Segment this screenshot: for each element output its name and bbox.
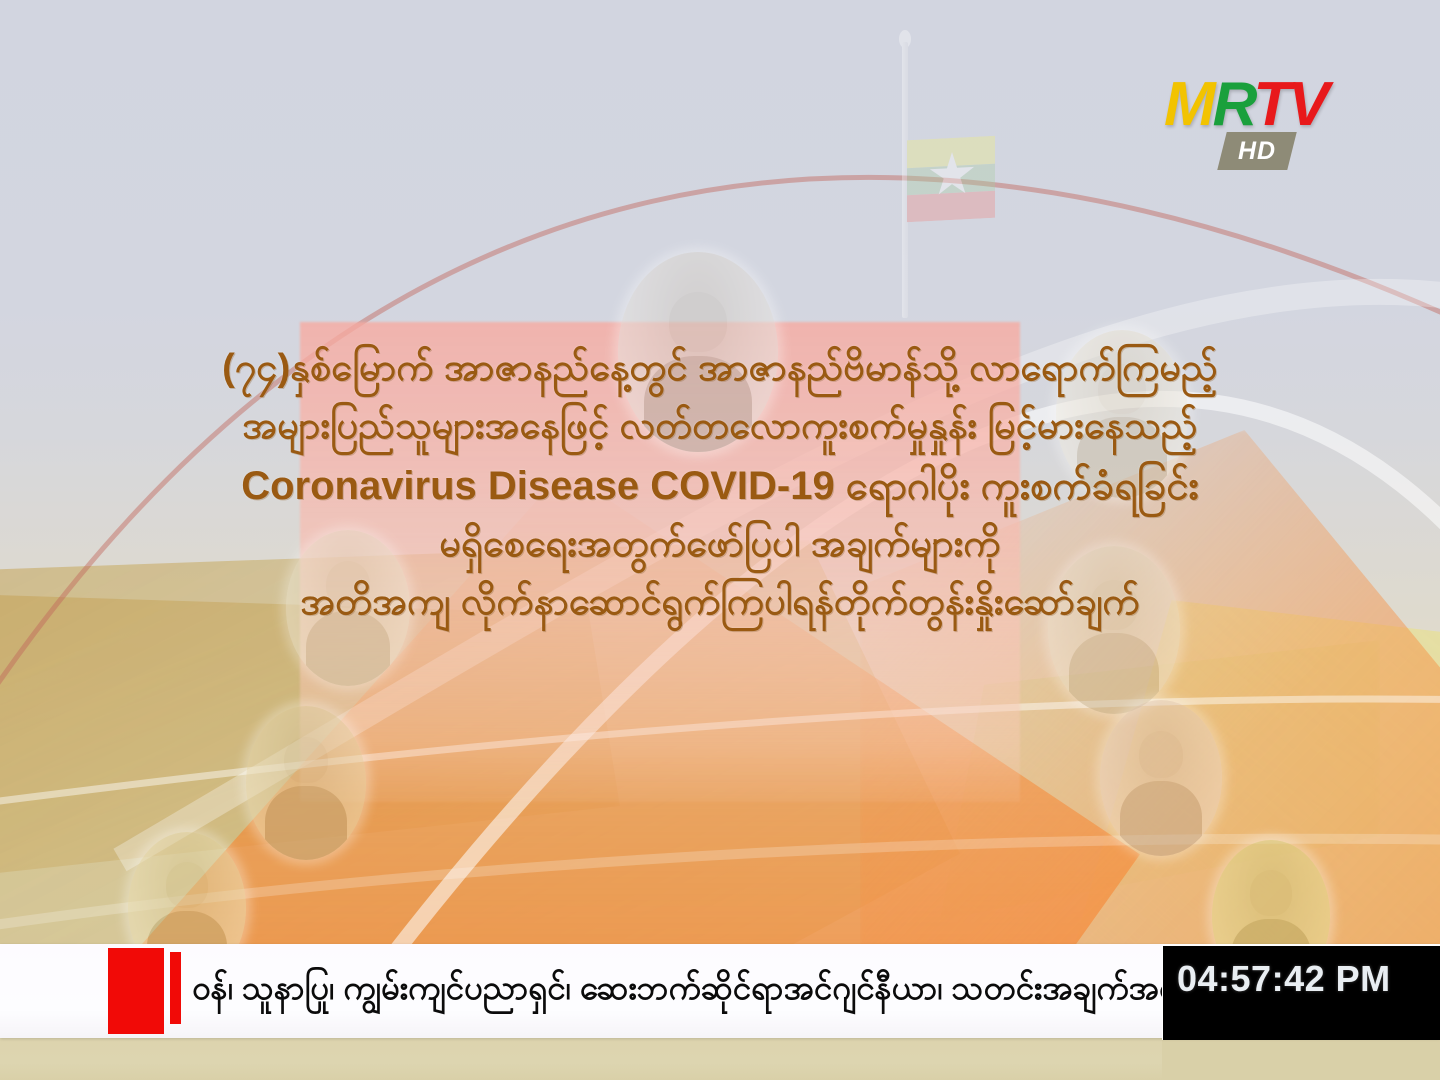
ticker-red-bar-icon	[170, 952, 181, 1024]
portrait-shoulders	[1077, 417, 1167, 498]
flag-cloth	[907, 136, 995, 223]
clock-box: 04:57:42 PM	[1162, 944, 1440, 1040]
mrtv-channel-logo: MRTV HD	[1164, 74, 1344, 182]
broadcast-screen: (၇၄)နှစ်မြောက် အာဇာနည်နေ့တွင် အာဇာနည်ဗိမ…	[0, 0, 1440, 1080]
hd-badge-label: HD	[1222, 132, 1292, 170]
portrait-head	[284, 737, 327, 783]
ticker-headline-text: ဝန်၊ သူနာပြု၊ ကျွမ်းကျင်ပညာရှင်၊ ဆေးဘက်ဆ…	[192, 944, 1190, 1038]
portrait-head	[1250, 870, 1292, 916]
logo-letters-tv: TV	[1253, 70, 1326, 139]
logo-letter-m: M	[1164, 70, 1213, 139]
portrait-head	[166, 862, 208, 908]
clock-time-label: 04:57:42 PM	[1177, 958, 1391, 1000]
flag-band-red	[907, 191, 995, 223]
portrait-shoulders	[265, 786, 347, 860]
portrait-head	[669, 292, 727, 352]
ticker-red-block-icon	[108, 948, 164, 1034]
martyr-portrait-4	[1048, 546, 1180, 714]
martyr-portrait-5	[246, 706, 366, 860]
martyr-portrait-3	[286, 530, 410, 686]
portrait-shoulders	[306, 611, 390, 686]
portrait-shoulders	[1120, 781, 1203, 856]
martyr-portrait-6	[1100, 700, 1222, 856]
logo-letter-r: R	[1213, 70, 1254, 139]
martyr-portrait-2	[1056, 330, 1188, 498]
portrait-head	[1098, 364, 1146, 414]
bottom-strip-right	[1162, 1038, 1440, 1080]
mrtv-wordmark: MRTV	[1164, 74, 1327, 136]
portrait-shoulders	[644, 356, 753, 452]
portrait-head	[1090, 580, 1138, 630]
portrait-head	[326, 561, 371, 608]
myanmar-flag-half-mast	[888, 28, 1018, 318]
martyr-portrait-1	[618, 252, 778, 452]
portrait-head	[1139, 731, 1183, 778]
